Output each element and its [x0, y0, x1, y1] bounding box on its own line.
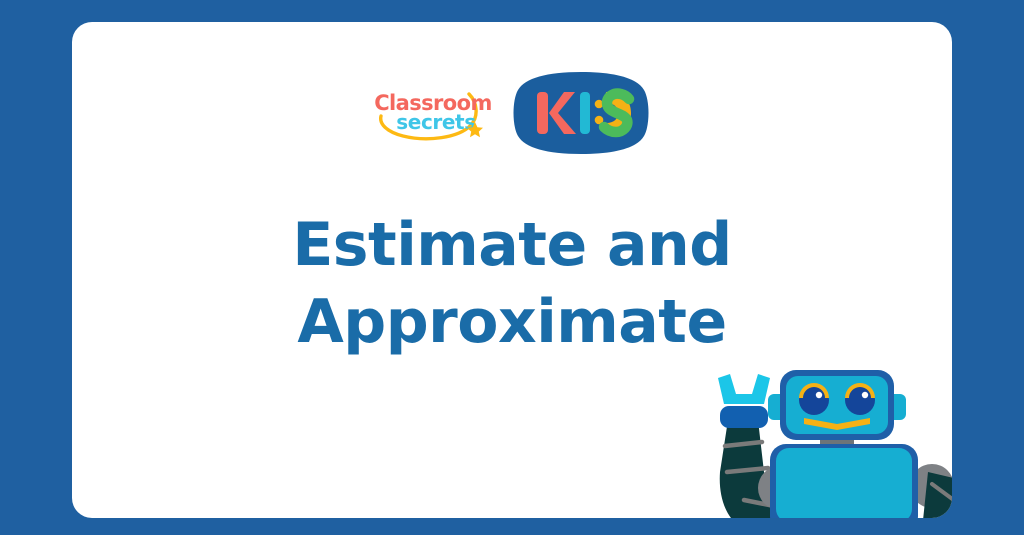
robot-head: [768, 370, 906, 440]
content-card: Classroom secrets: [72, 22, 952, 518]
classroom-secrets-star-icon: [373, 82, 497, 144]
classroom-secrets-logo: Classroom secrets: [373, 82, 497, 144]
robot-right-eye-highlight: [862, 392, 868, 398]
slide-canvas: Classroom secrets: [0, 0, 1024, 535]
robot-left-eye-highlight: [816, 392, 822, 398]
robot-torso: [770, 444, 918, 518]
robot-left-claw-icon: [718, 374, 770, 404]
page-title-line-2: Approximate: [72, 284, 952, 361]
page-title-line-1: Estimate and: [72, 207, 952, 284]
page-title: Estimate and Approximate: [72, 207, 952, 361]
kids-badge-logo: [511, 70, 651, 156]
robot-illustration: [632, 360, 952, 518]
brand-logo-lockup: Classroom secrets: [72, 70, 952, 156]
kids-badge-svg: [511, 70, 651, 156]
robot-left-wrist-cuff: [720, 406, 768, 428]
kids-letter-i: [580, 92, 590, 134]
